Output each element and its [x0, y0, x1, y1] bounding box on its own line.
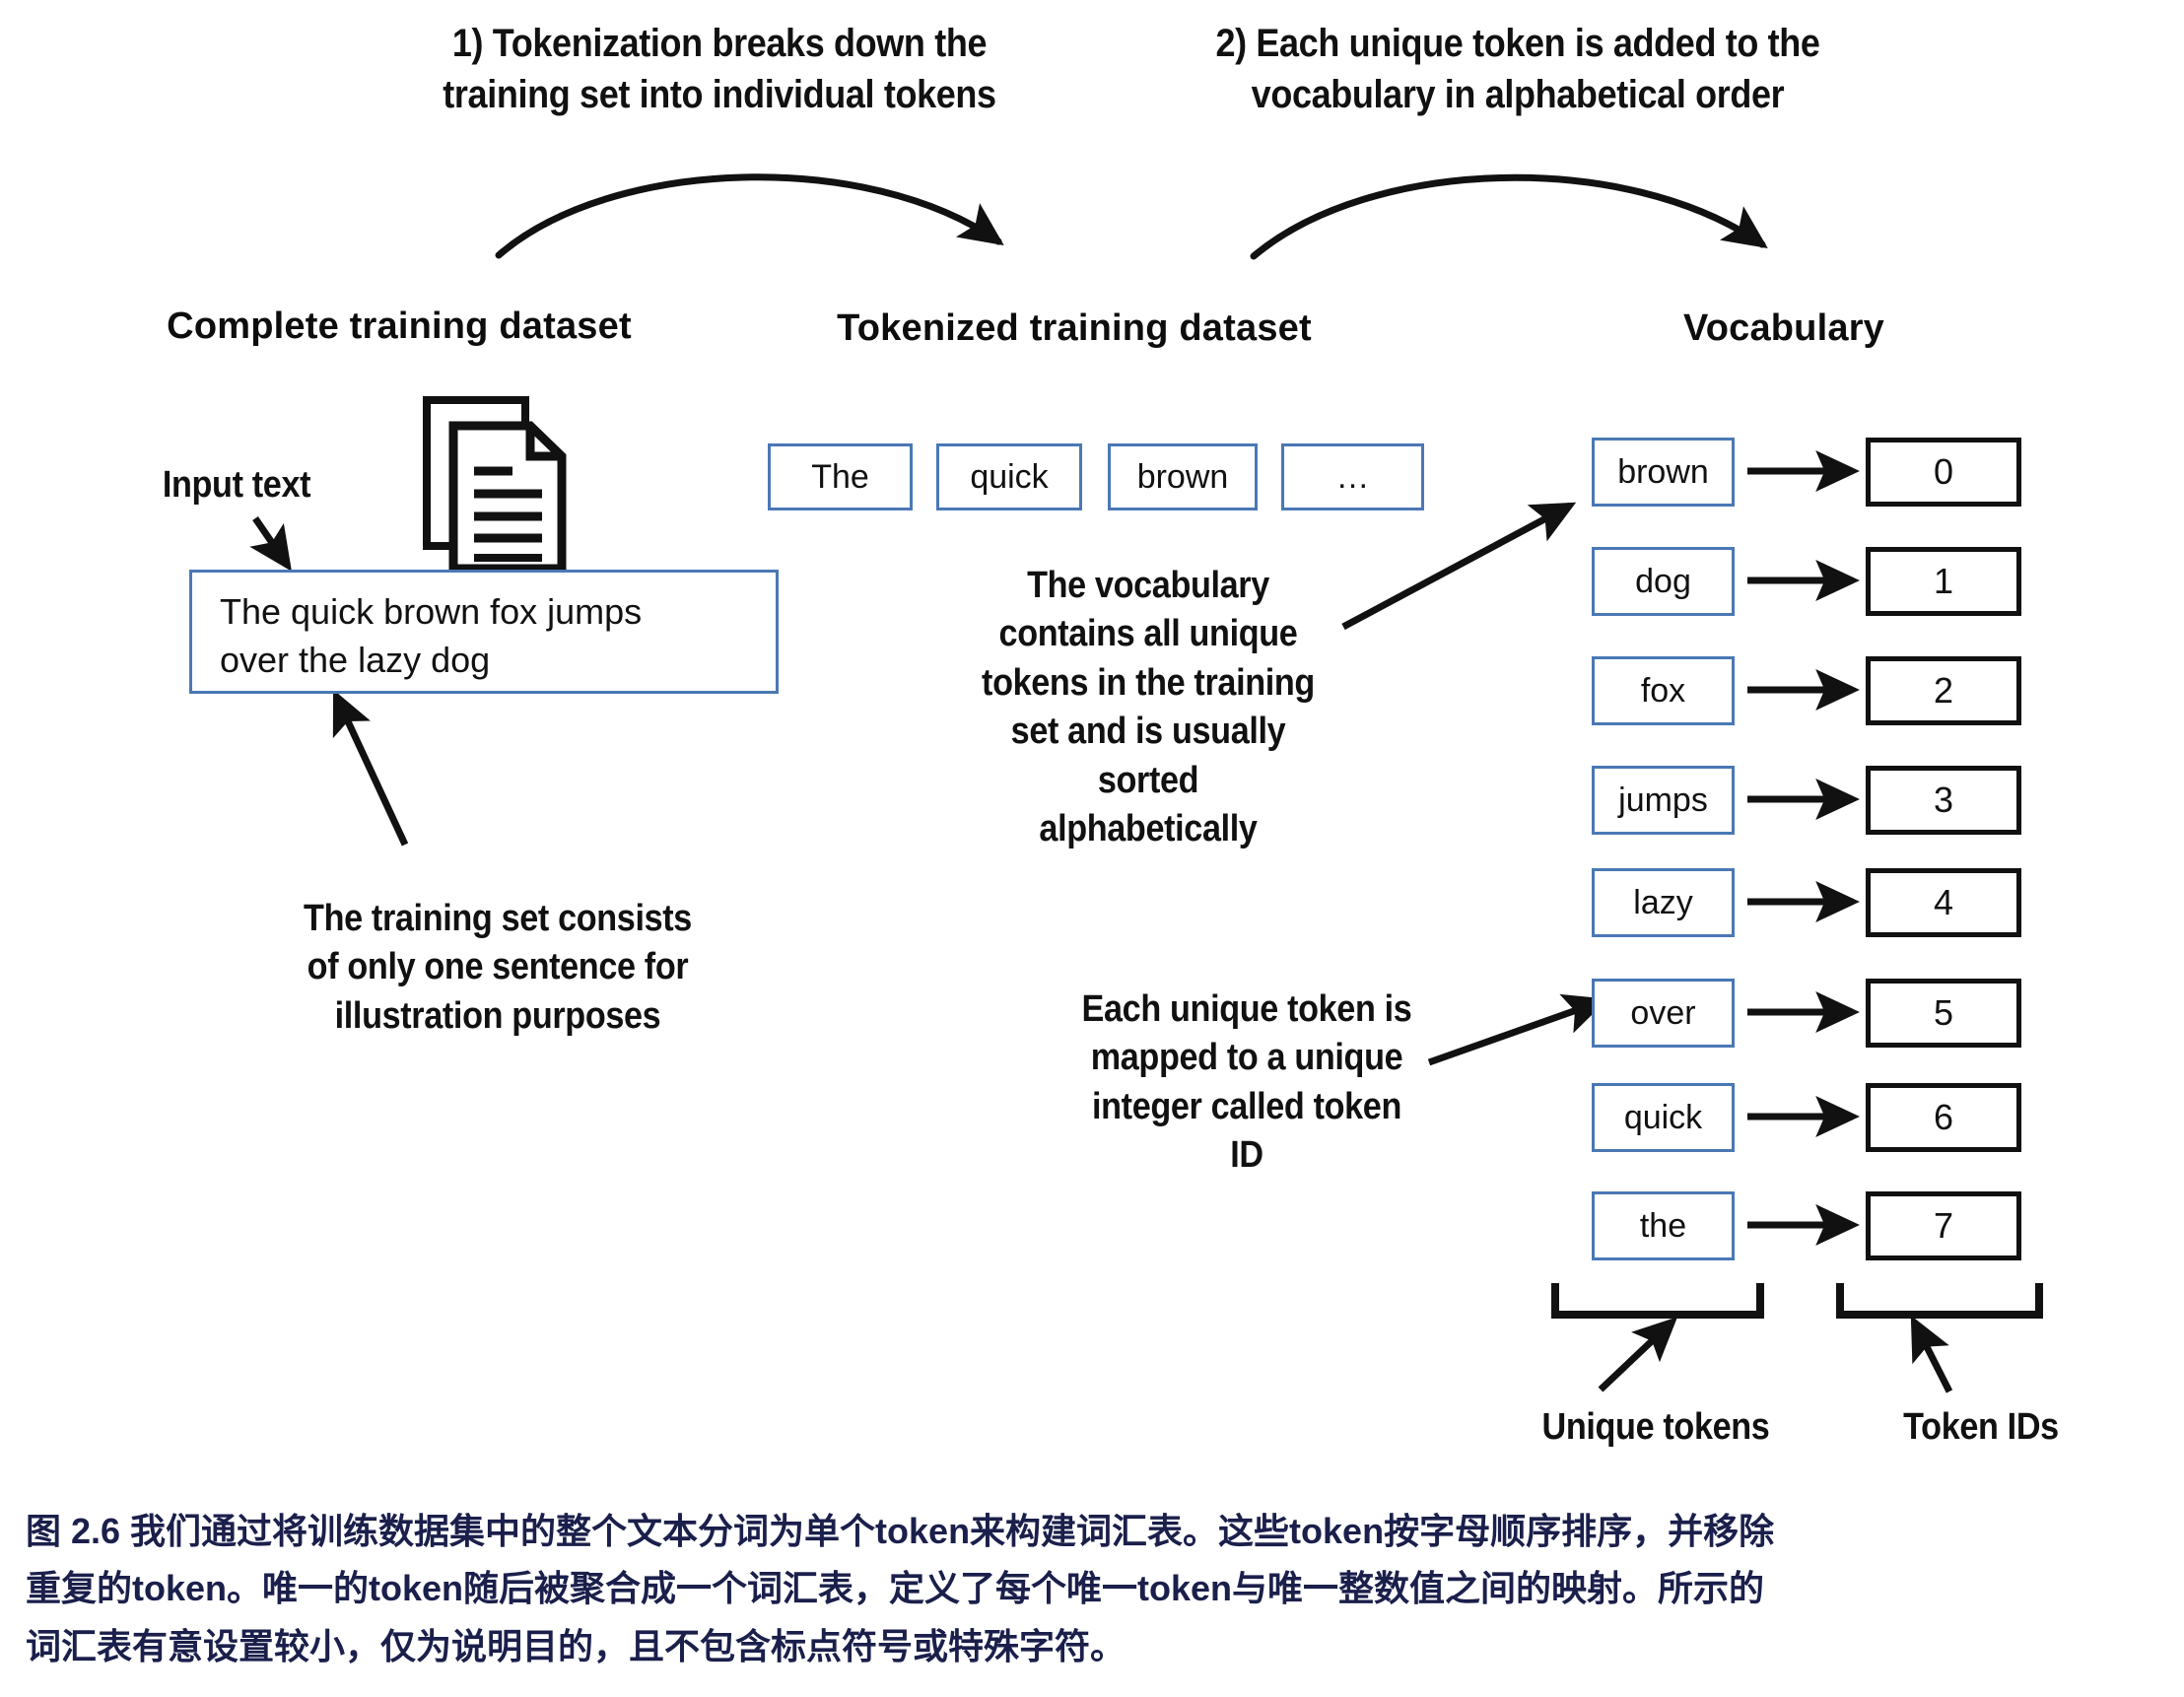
input-text-box: The quick brown fox jumps over the lazy … [189, 570, 779, 694]
heading-tokenized-training-dataset: Tokenized training dataset [798, 307, 1350, 350]
heading-complete-training-dataset: Complete training dataset [128, 305, 670, 348]
curved-arrow-step2-icon [1254, 177, 1762, 256]
token-box-0: The [768, 443, 913, 510]
annotation-training-set-note: The training set consists of only one se… [290, 895, 707, 1041]
token-ids-brace-icon [1840, 1283, 2039, 1392]
token-id-box-7: 7 [1866, 1191, 2021, 1260]
caption-line-2: 重复的token。唯一的token随后被聚合成一个词汇表，定义了每个唯一toke… [26, 1560, 2164, 1617]
figure-caption: 图 2.6 我们通过将训练数据集中的整个文本分词为单个token来构建词汇表。这… [26, 1503, 2164, 1675]
curved-arrow-step1-icon [499, 177, 998, 255]
vocab-note-pointer-arrow-icon [1343, 506, 1570, 627]
vocab-token-box-4: lazy [1592, 868, 1735, 937]
annotation-step-2: 2) Each unique token is added to the voc… [1207, 18, 1828, 120]
annotation-vocabulary-note: The vocabulary contains all unique token… [971, 562, 1326, 853]
token-id-box-5: 5 [1866, 979, 2021, 1048]
token-id-box-6: 6 [1866, 1083, 2021, 1152]
vocab-token-box-6: quick [1592, 1083, 1735, 1152]
token-box-3: … [1281, 443, 1424, 510]
token-id-box-4: 4 [1866, 868, 2021, 937]
label-unique-tokens: Unique tokens [1496, 1403, 1815, 1452]
training-note-pointer-arrow-icon [336, 696, 405, 845]
token-id-box-1: 1 [1866, 547, 2021, 616]
token-id-box-2: 2 [1866, 656, 2021, 725]
vocab-token-box-5: over [1592, 979, 1735, 1048]
vocab-token-box-2: fox [1592, 656, 1735, 725]
caption-line-1: 图 2.6 我们通过将训练数据集中的整个文本分词为单个token来构建词汇表。这… [26, 1503, 2164, 1560]
heading-vocabulary: Vocabulary [1636, 307, 1932, 350]
figure-canvas: 1) Tokenization breaks down the training… [0, 0, 2184, 1697]
annotation-token-id-note: Each unique token is mapped to a unique … [1069, 985, 1424, 1181]
vocab-token-box-7: the [1592, 1191, 1735, 1260]
unique-tokens-brace-icon [1555, 1283, 1760, 1390]
annotation-step-1: 1) Tokenization breaks down the training… [418, 18, 1021, 120]
label-input-text: Input text [130, 461, 343, 509]
token-id-box-3: 3 [1866, 766, 2021, 835]
token-box-2: brown [1108, 443, 1258, 510]
vocab-token-box-3: jumps [1592, 766, 1735, 835]
token-id-box-0: 0 [1866, 438, 2021, 507]
token-box-1: quick [936, 443, 1082, 510]
documents-stack-icon [427, 400, 562, 569]
vocab-token-box-1: dog [1592, 547, 1735, 616]
caption-line-3: 词汇表有意设置较小，仅为说明目的，且不包含标点符号或特殊字符。 [26, 1618, 2164, 1675]
vocab-token-box-0: brown [1592, 438, 1735, 507]
label-token-ids: Token IDs [1857, 1403, 2105, 1452]
input-text-pointer-arrow-icon [255, 518, 288, 566]
tokenid-note-pointer-arrow-icon [1429, 1001, 1602, 1062]
